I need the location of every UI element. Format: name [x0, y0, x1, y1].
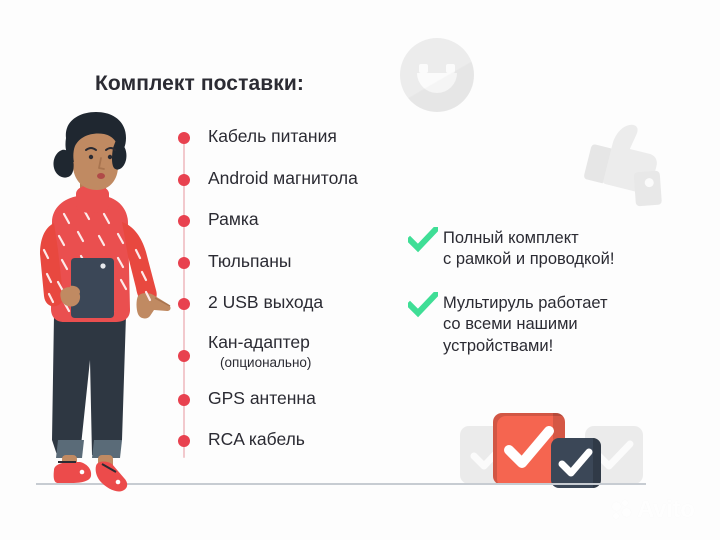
bullet-dot [178, 257, 190, 269]
benefit-line: Мультируль работает [443, 294, 608, 312]
list-item-label: 2 USB выхода [208, 294, 323, 312]
checkbox-dark [551, 438, 601, 488]
benefit-item: Полный комплект с рамкой и проводкой! [408, 228, 708, 271]
list-item-sublabel: (опционально) [220, 356, 311, 370]
list-item-label: Кабель питания [208, 128, 337, 146]
bullet-dot [178, 394, 190, 406]
list-item: Android магнитола [178, 170, 418, 188]
list-item-label: Кан-адаптер [208, 334, 311, 352]
promo-canvas: Комплект поставки: Кабель питания Androi… [0, 0, 720, 540]
avito-watermark: Avito [612, 498, 695, 522]
smiley-face-icon [400, 38, 474, 112]
thumbs-up-icon [578, 118, 670, 210]
benefit-item: Мультируль работает со всеми нашими устр… [408, 293, 708, 357]
bullet-dot [178, 215, 190, 227]
bullet-dot [178, 174, 190, 186]
bullet-dot [178, 350, 190, 362]
list-item: GPS антенна [178, 390, 418, 408]
bullet-dot [178, 298, 190, 310]
bullet-dot [178, 435, 190, 447]
benefit-line: устройствами! [443, 337, 553, 355]
list-item: 2 USB выхода [178, 294, 418, 312]
benefits-block: Полный комплект с рамкой и проводкой! Му… [408, 228, 708, 357]
benefit-text: Полный комплект с рамкой и проводкой! [443, 228, 614, 271]
benefit-text: Мультируль работает со всеми нашими устр… [443, 293, 608, 357]
list-item-label: Android магнитола [208, 170, 358, 188]
avito-wordmark: Avito [637, 498, 695, 522]
list-item-label: Тюльпаны [208, 253, 291, 271]
woman-with-tablet-illustration [18, 110, 178, 500]
benefit-line: Полный комплект [443, 229, 579, 247]
avito-logo-icon [612, 500, 634, 520]
list-item-label: RCA кабель [208, 431, 305, 449]
list-item-label: Рамка [208, 211, 259, 229]
list-item: Рамка [178, 211, 418, 229]
delivery-contents-list: Кабель питания Android магнитола Рамка Т… [178, 128, 418, 449]
page-title: Комплект поставки: [95, 72, 304, 96]
list-item-label: GPS антенна [208, 390, 316, 408]
benefit-line: с рамкой и проводкой! [443, 250, 614, 268]
benefit-line: со всеми нашими [443, 315, 578, 333]
list-item: Кан-адаптер (опционально) [178, 334, 418, 370]
list-item: Тюльпаны [178, 253, 418, 271]
list-item: RCA кабель [178, 431, 418, 449]
list-item: Кабель питания [178, 128, 418, 146]
bullet-dot [178, 132, 190, 144]
green-check-icon [408, 227, 438, 253]
smiley-shading [400, 38, 474, 112]
green-check-icon [408, 292, 438, 318]
checkbox-cluster [455, 408, 645, 493]
